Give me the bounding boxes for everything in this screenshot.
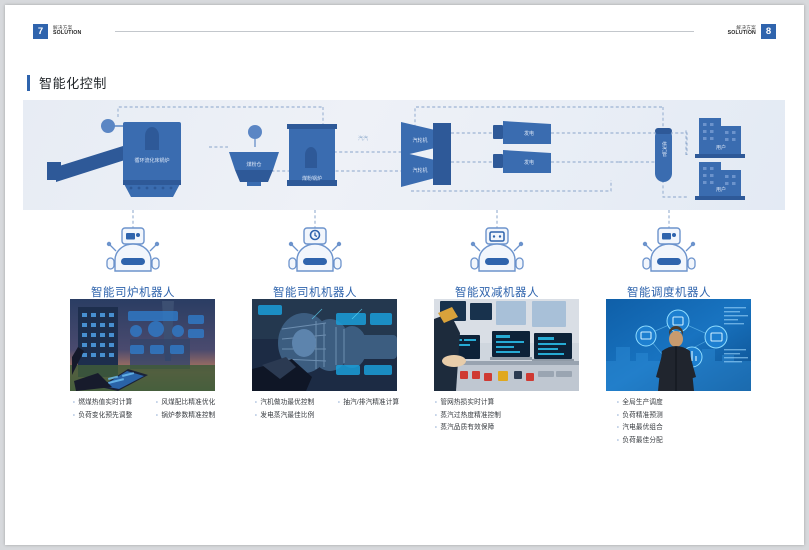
section-title-bar (27, 75, 30, 91)
robot-card-dual-reduction[interactable]: 智能双减机器人 (402, 227, 592, 300)
diagram-node-turbine-1[interactable]: 汽轮机 (401, 122, 451, 156)
bullet-item: 负荷变化预先调整 (73, 410, 156, 423)
bullet-item: 汽电最优组合 (617, 422, 767, 435)
node-label-coal-bunker: 煤粉仓 (246, 161, 261, 168)
process-diagram-panel: .nf { fill:#3a6cb0; } .nfd { fill:#2e599… (23, 100, 785, 210)
node-label-turbine-2: 汽轮机 (412, 167, 427, 174)
robot-icon-dispatch (638, 227, 700, 275)
bullet-row: 汽机做功最优控制 抽汽/排汽精准计算 (255, 397, 435, 410)
node-label-customer-2: 用户 (716, 186, 726, 193)
header-right-brand: 解决方案 SOLUTION 8 (728, 24, 776, 39)
robot-icon-dual-reduction (466, 227, 528, 275)
bullet-item: 全局生产调度 (617, 397, 767, 410)
bullet-group-dispatch: 全局生产调度 负荷精准预测 汽电最优组合 负荷最佳分配 (617, 397, 767, 447)
photo-power-plant-dashboard-photo[interactable] (70, 299, 215, 391)
page-header: 7 解决方案 SOLUTION 解决方案 SOLUTION 8 (5, 5, 804, 51)
page-number-right: 8 (761, 24, 776, 39)
photo-turbine-rotor-photo[interactable] (252, 299, 397, 391)
header-rule-right (384, 31, 694, 32)
diagram-node-generator-1[interactable]: 发电 (493, 121, 551, 144)
diagram-node-coal-bunker[interactable]: 煤粉仓 (229, 152, 279, 186)
slide-page: 7 解决方案 SOLUTION 解决方案 SOLUTION 8 智能化控制 .n… (5, 5, 804, 545)
bullet-item: 汽机做功最优控制 (255, 397, 338, 410)
bullet-item: 锅炉参数精准控制 (156, 410, 239, 423)
header-left-en: SOLUTION (53, 31, 81, 36)
bullet-row: 燃煤热值实时计算 风煤配比精准优化 (73, 397, 248, 410)
robot-name-dual-reduction: 智能双减机器人 (402, 284, 592, 300)
diagram-node-customer-2[interactable]: 用户 (695, 162, 745, 200)
bullet-item: 风煤配比精准优化 (156, 397, 239, 410)
robot-icon-turbine-operator (284, 227, 346, 275)
node-label-generator-2: 发电 (524, 159, 534, 166)
edge-label-steam-1: 汽汽 (358, 135, 368, 142)
bullet-list-row: 燃煤热值实时计算 风煤配比精准优化 负荷变化预先调整 锅炉参数精准控制 汽机做功… (23, 397, 785, 457)
node-label-customer-1: 用户 (716, 144, 726, 151)
bullet-group-boiler-operator: 燃煤热值实时计算 风煤配比精准优化 负荷变化预先调整 锅炉参数精准控制 (73, 397, 248, 422)
robot-card-dispatch[interactable]: 智能调度机器人 (574, 227, 764, 300)
node-label-turbine-1: 汽轮机 (412, 137, 427, 144)
header-rule-left (115, 31, 425, 32)
bullet-item: 抽汽/排汽精准计算 (338, 397, 421, 410)
header-right-text: 解决方案 SOLUTION (728, 26, 756, 36)
diagram-node-generator-2[interactable]: 发电 (493, 150, 551, 173)
diagram-node-cfb-boiler[interactable]: 循环流化床锅炉 (47, 119, 181, 197)
bullet-row: 负荷变化预先调整 锅炉参数精准控制 (73, 410, 248, 423)
page-number-left: 7 (33, 24, 48, 39)
process-diagram-svg: .nf { fill:#3a6cb0; } .nfd { fill:#2e599… (23, 100, 785, 210)
bullet-group-dual-reduction: 管网热损实时计算 蒸汽过热度精准控制 蒸汽品质有效保障 (435, 397, 585, 435)
node-label-generator-1: 发电 (524, 130, 534, 137)
robot-name-boiler-operator: 智能司炉机器人 (38, 284, 228, 300)
robot-row: 智能司炉机器人 智能司机机器人 (23, 227, 785, 297)
robot-card-turbine-operator[interactable]: 智能司机机器人 (220, 227, 410, 300)
photo-smart-grid-operator-photo[interactable] (606, 299, 751, 391)
robot-icon-boiler-operator (102, 227, 164, 275)
diagram-node-customer-1[interactable]: 用户 (695, 118, 745, 158)
bullet-row: 发电蒸汽最佳比例 (255, 410, 435, 423)
diagram-node-turbine-2[interactable]: 汽轮机 (401, 152, 451, 187)
bullet-item: 管网热损实时计算 (435, 397, 585, 410)
header-right-en: SOLUTION (728, 31, 756, 36)
node-label-steam-header-c1: 供汽管 (661, 141, 667, 158)
bullet-item: 发电蒸汽最佳比例 (255, 410, 338, 423)
node-label-cfb-boiler: 循环流化床锅炉 (134, 157, 169, 164)
robot-name-turbine-operator: 智能司机机器人 (220, 284, 410, 300)
bullet-item: 负荷精准预测 (617, 410, 767, 423)
section-title: 智能化控制 (27, 73, 107, 92)
bullet-item: 蒸汽品质有效保障 (435, 422, 585, 435)
bullet-item: 蒸汽过热度精准控制 (435, 410, 585, 423)
diagram-node-steam-header[interactable]: 供汽管 (655, 128, 672, 182)
robot-card-boiler-operator[interactable]: 智能司炉机器人 (38, 227, 228, 300)
bullet-item: 燃煤热值实时计算 (73, 397, 156, 410)
photo-control-room-photo[interactable] (434, 299, 579, 391)
robot-name-dispatch: 智能调度机器人 (574, 284, 764, 300)
header-left-brand: 7 解决方案 SOLUTION (33, 24, 81, 39)
section-title-text: 智能化控制 (39, 73, 107, 92)
header-left-text: 解决方案 SOLUTION (53, 26, 81, 36)
bullet-item: 负荷最佳分配 (617, 435, 767, 448)
photo-card-row (23, 299, 785, 399)
bullet-group-turbine-operator: 汽机做功最优控制 抽汽/排汽精准计算 发电蒸汽最佳比例 (255, 397, 435, 422)
node-label-pc-boiler: 煤粉锅炉 (302, 175, 322, 182)
